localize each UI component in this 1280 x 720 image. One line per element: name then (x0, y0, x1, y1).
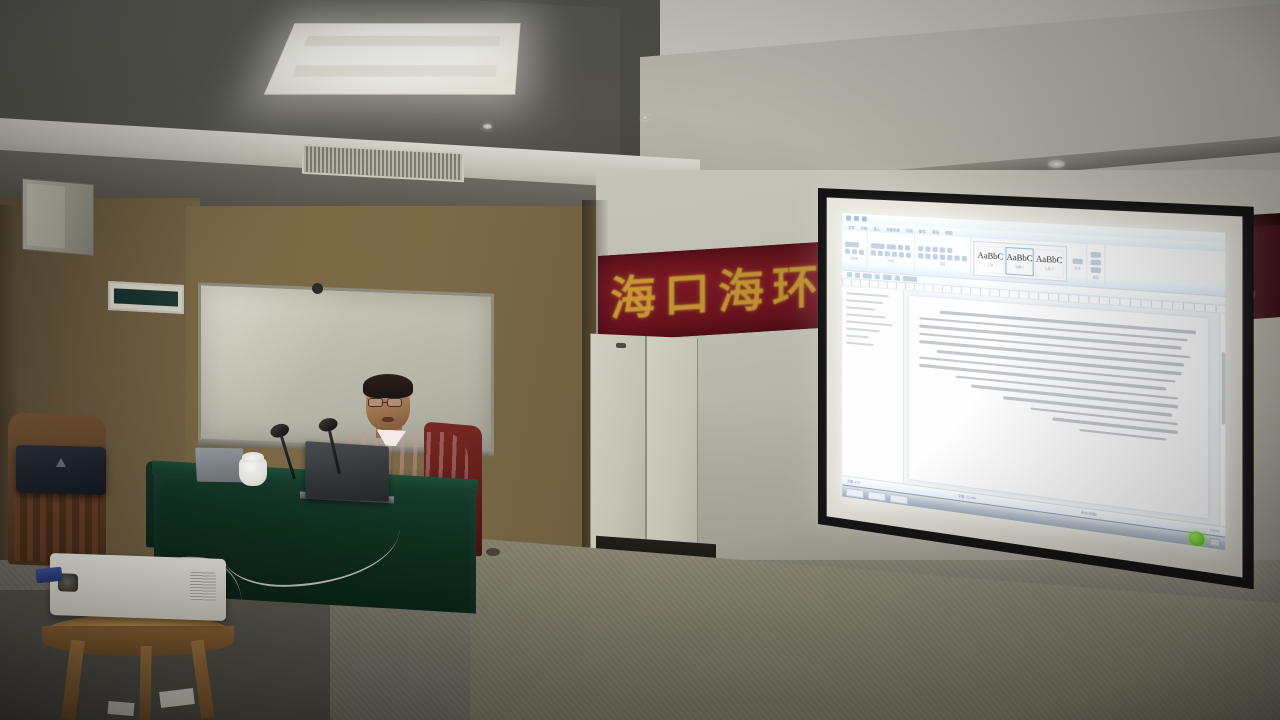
whiteboard-clip-icon (312, 283, 323, 294)
microphone-stem (328, 431, 340, 474)
white-double-door[interactable] (588, 333, 700, 570)
justify-icon[interactable] (940, 254, 945, 260)
change-styles-icon[interactable] (1073, 258, 1083, 264)
toolbar-icon-6[interactable] (895, 275, 900, 280)
door-leaf-left[interactable] (590, 334, 646, 569)
wall-control-panel[interactable] (108, 281, 184, 314)
projector-vent-icon (190, 572, 216, 601)
toolbar-icon-7[interactable] (903, 276, 917, 282)
shading-icon[interactable] (954, 255, 959, 261)
vertical-scrollbar[interactable] (1219, 314, 1225, 527)
nav-entry[interactable] (846, 320, 892, 326)
status-word-count[interactable]: 字数: 12,438 (958, 494, 976, 501)
style-name-normal: 正文 (988, 262, 994, 267)
ribbon-group-label-font: 字体 (871, 257, 911, 264)
toolbar-icon-5[interactable] (883, 274, 892, 280)
projection-screen: 文件 开始 插入 页面布局 引用 邮件 审阅 视图 (818, 188, 1254, 589)
wechat-tray-icon[interactable] (1189, 530, 1205, 547)
room-photo-scene: 海口海环院环 境 文件 开始 (0, 0, 1280, 720)
door-leaf-right[interactable] (646, 336, 698, 570)
floor-paper (107, 701, 134, 716)
decrease-indent-icon[interactable] (940, 247, 945, 253)
ribbon-group-editing[interactable]: 编辑 (1087, 244, 1105, 288)
nav-entry[interactable] (846, 306, 875, 310)
scrollbar-thumb[interactable] (1222, 352, 1226, 425)
ribbon-group-label-clipboard: 剪贴板 (845, 255, 864, 260)
clipboard-icons[interactable] (845, 241, 864, 247)
multilevel-list-icon[interactable] (933, 246, 938, 251)
taskbar-item-explorer[interactable] (890, 493, 908, 504)
glasses-icon-left (368, 398, 383, 407)
ribbon-group-label-styles: 样式 (1073, 266, 1083, 271)
stool-leg (139, 646, 151, 720)
laptop-bag (16, 445, 106, 495)
status-zoom[interactable]: 100% (1210, 528, 1219, 534)
tab-home[interactable]: 开始 (861, 225, 868, 230)
numbering-icon[interactable] (925, 246, 930, 251)
clipboard-icons-2[interactable] (845, 248, 864, 254)
grow-font-icon[interactable] (898, 244, 903, 249)
microphone-stem (280, 437, 295, 480)
taskbar-item-word[interactable] (868, 490, 886, 501)
tab-insert[interactable]: 插入 (873, 225, 880, 230)
status-page-indicator[interactable]: 页面: 1/24 (847, 479, 860, 485)
style-name-heading1: 标题 1 (1016, 264, 1024, 269)
navigation-pane[interactable] (842, 286, 904, 484)
nav-entry[interactable] (846, 313, 886, 318)
nav-entry[interactable] (846, 342, 873, 347)
style-name-heading2: 标题 2 (1045, 266, 1053, 271)
ribbon-group-clipboard[interactable]: 剪贴板 (842, 230, 868, 271)
status-language[interactable]: 中文(中国) (1081, 510, 1097, 516)
downlight-icon (641, 115, 649, 120)
tab-page-layout[interactable]: 页面布局 (886, 226, 900, 232)
underline-icon[interactable] (885, 251, 890, 256)
nav-entry[interactable] (846, 299, 883, 304)
borders-icon[interactable] (962, 255, 967, 261)
document-text-line (1052, 417, 1178, 434)
align-left-icon[interactable] (918, 253, 923, 258)
system-tray[interactable] (1209, 538, 1220, 547)
font-color-icon[interactable] (906, 252, 911, 257)
editing-row-2[interactable] (1091, 259, 1101, 265)
start-button[interactable] (846, 487, 864, 498)
glasses-icon-right (387, 398, 402, 407)
line-spacing-icon[interactable] (947, 254, 952, 260)
tab-view[interactable]: 视图 (945, 229, 952, 235)
glasses-bridge (383, 402, 388, 403)
nav-entry[interactable] (846, 334, 869, 338)
align-right-icon[interactable] (933, 254, 938, 260)
toolbar-icon-1[interactable] (847, 272, 852, 277)
styles-gallery[interactable]: AaBbC 正文 AaBbC 标题 1 AaBbC 标题 2 (973, 241, 1067, 282)
style-item-normal[interactable]: AaBbC 正文 (977, 245, 1005, 274)
downlight-icon (483, 124, 492, 129)
font-row-2[interactable] (871, 250, 911, 258)
bold-icon[interactable] (871, 250, 876, 255)
style-preview-heading1: AaBbC (1007, 253, 1033, 263)
style-item-heading1[interactable]: AaBbC 标题 1 (1005, 246, 1033, 275)
nav-entry[interactable] (846, 292, 889, 297)
select-icon[interactable] (1091, 267, 1101, 273)
style-preview-heading2: AaBbC (1036, 255, 1063, 265)
door-handle-icon[interactable] (616, 343, 626, 348)
nav-entry[interactable] (846, 327, 880, 332)
redo-icon[interactable] (862, 216, 867, 221)
ribbon-group-styles[interactable]: 样式 (1069, 243, 1087, 286)
ribbon-group-label-paragraph: 段落 (918, 260, 967, 267)
projection-screen-surface: 文件 开始 插入 页面布局 引用 邮件 审阅 视图 (827, 197, 1243, 577)
presenter-hair (363, 374, 413, 398)
strikethrough-icon[interactable] (892, 251, 897, 256)
tab-review[interactable]: 审阅 (932, 229, 939, 235)
replace-icon[interactable] (1091, 259, 1101, 265)
toolbar-icon-2[interactable] (855, 273, 860, 278)
font-family-dropdown[interactable] (871, 243, 885, 249)
font-size-dropdown[interactable] (887, 244, 896, 250)
style-item-heading2[interactable]: AaBbC 标题 2 (1035, 248, 1064, 278)
editing-row-3[interactable] (1091, 267, 1101, 273)
shrink-font-icon[interactable] (905, 245, 910, 250)
vga-connector-icon (35, 567, 62, 584)
find-icon[interactable] (1091, 252, 1101, 258)
ribbon-group-font[interactable]: 字体 (868, 232, 915, 275)
format-painter-icon[interactable] (859, 249, 864, 254)
document-page[interactable] (909, 296, 1208, 519)
word-application-window[interactable]: 文件 开始 插入 页面布局 引用 邮件 审阅 视图 (842, 213, 1225, 550)
tab-references[interactable]: 引用 (906, 227, 913, 233)
copy-icon[interactable] (852, 249, 857, 254)
wall-speaker-icon (22, 178, 94, 256)
floor-object (486, 548, 500, 556)
cut-icon[interactable] (845, 248, 850, 253)
style-preview-normal: AaBbC (978, 251, 1004, 261)
projector (50, 553, 226, 621)
teacup (239, 458, 267, 486)
align-center-icon[interactable] (925, 253, 930, 258)
bag-logo-icon (56, 458, 66, 467)
undo-icon[interactable] (854, 216, 859, 221)
secondary-laptop (195, 448, 245, 483)
speaker-face (27, 183, 65, 248)
text-highlight-icon[interactable] (899, 251, 904, 256)
presenter-mouth (382, 417, 394, 422)
tab-mailings[interactable]: 邮件 (919, 228, 926, 234)
toolbar-icon-3[interactable] (863, 273, 872, 279)
tab-file[interactable]: 文件 (848, 224, 855, 229)
ribbon-group-label-editing: 编辑 (1091, 275, 1101, 280)
editing-row-1[interactable] (1091, 252, 1101, 258)
change-styles-row[interactable] (1073, 258, 1083, 264)
increase-indent-icon[interactable] (947, 247, 952, 253)
bullets-icon[interactable] (918, 245, 923, 250)
toolbar-icon-4[interactable] (875, 274, 880, 279)
paste-icon[interactable] (845, 241, 859, 247)
save-icon[interactable] (846, 215, 851, 220)
italic-icon[interactable] (878, 250, 883, 255)
downlight-icon (1048, 160, 1065, 168)
ribbon-group-paragraph[interactable]: 段落 (915, 234, 971, 278)
ceiling-light-icon (264, 23, 521, 94)
font-row-1[interactable] (871, 243, 911, 251)
